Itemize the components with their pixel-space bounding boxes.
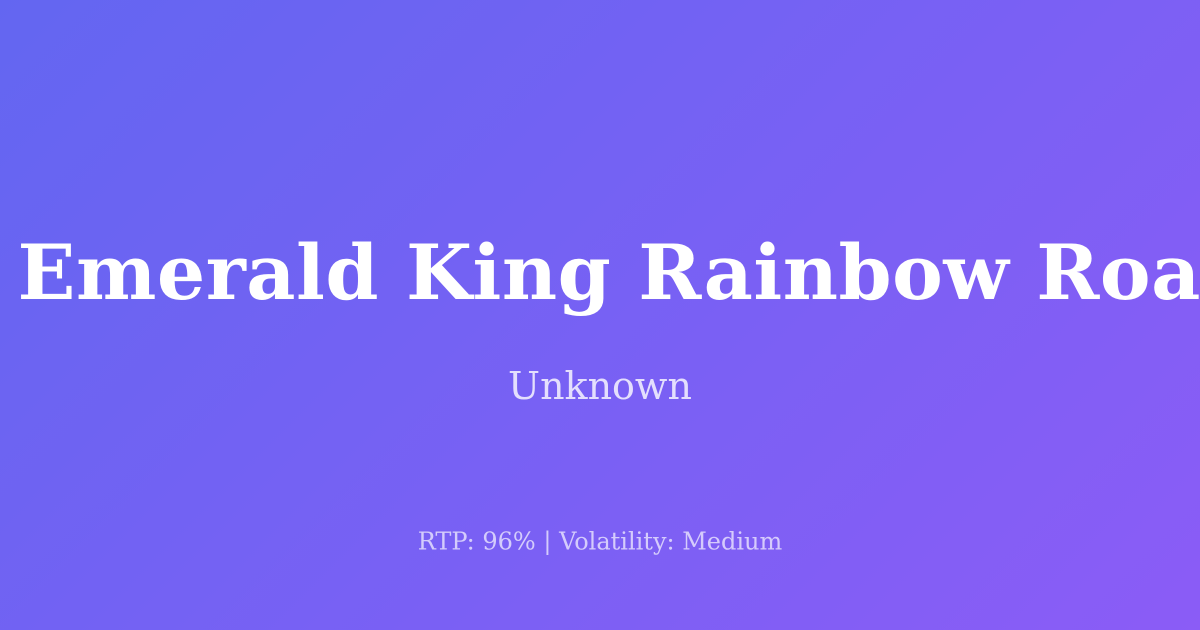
page-title: Emerald King Rainbow Road (18, 233, 1200, 313)
title-row: 1F B0 Emerald King Rainbow Road (0, 182, 1200, 364)
og-share-card: 1F B0 Emerald King Rainbow Road Unknown … (0, 0, 1200, 630)
game-meta-line: RTP: 96% | Volatility: Medium (0, 528, 1200, 557)
subtitle: Unknown (0, 364, 1200, 410)
